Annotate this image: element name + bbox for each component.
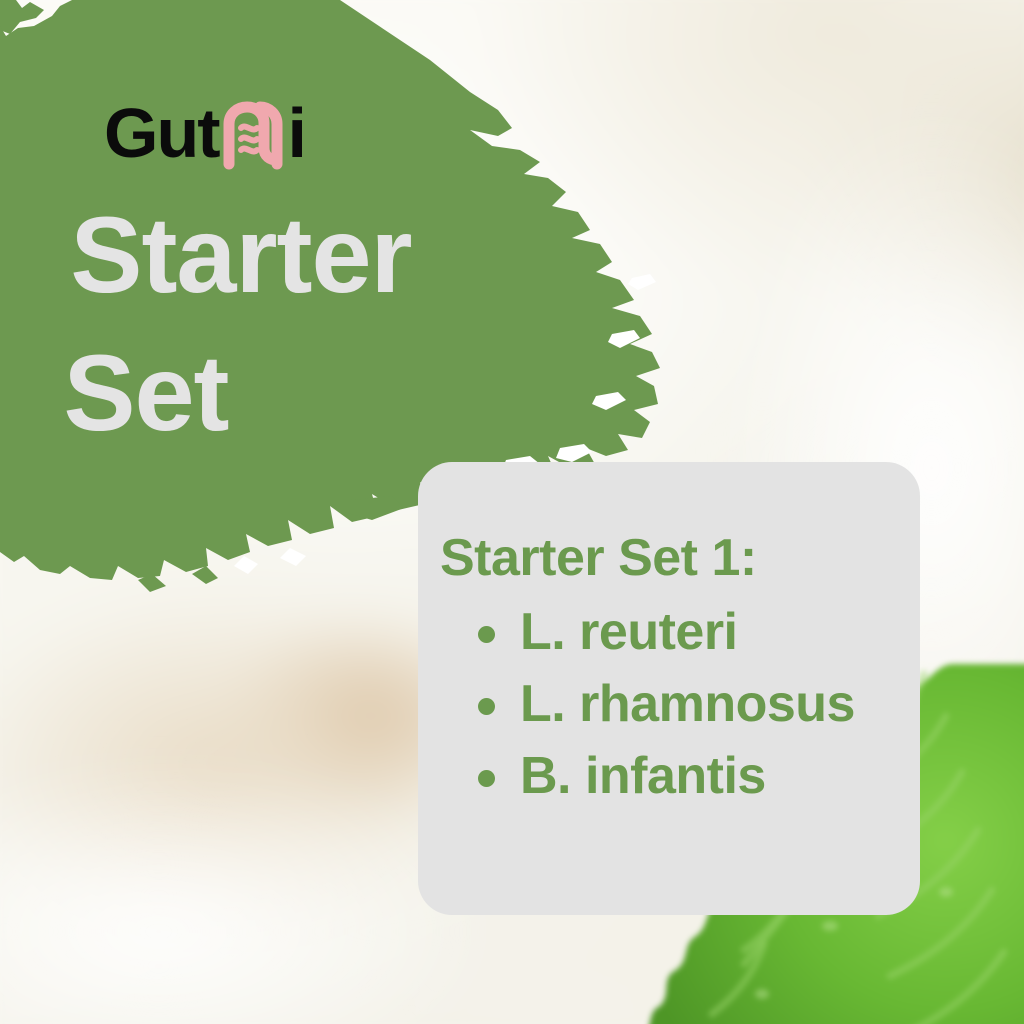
headline-line-2: Set bbox=[0, 324, 560, 462]
logo-text-i: i bbox=[288, 98, 305, 168]
starter-set-card: Starter Set 1: L. reuteri L. rhamnosus B… bbox=[418, 462, 920, 915]
intestine-icon bbox=[219, 100, 287, 170]
list-item: L. rhamnosus bbox=[478, 669, 894, 741]
brand-logo: Gut i bbox=[104, 96, 305, 170]
strain-list: L. reuteri L. rhamnosus B. infantis bbox=[440, 597, 894, 812]
card-title: Starter Set 1: bbox=[440, 530, 894, 587]
list-item: L. reuteri bbox=[478, 597, 894, 669]
page-title: Starter Set bbox=[0, 186, 560, 462]
headline-line-1: Starter bbox=[0, 186, 560, 324]
list-item: B. infantis bbox=[478, 741, 894, 813]
poster-canvas: Gut i Starter Set Starter Set 1: bbox=[0, 0, 1024, 1024]
logo-text-gut: Gut bbox=[104, 98, 219, 168]
